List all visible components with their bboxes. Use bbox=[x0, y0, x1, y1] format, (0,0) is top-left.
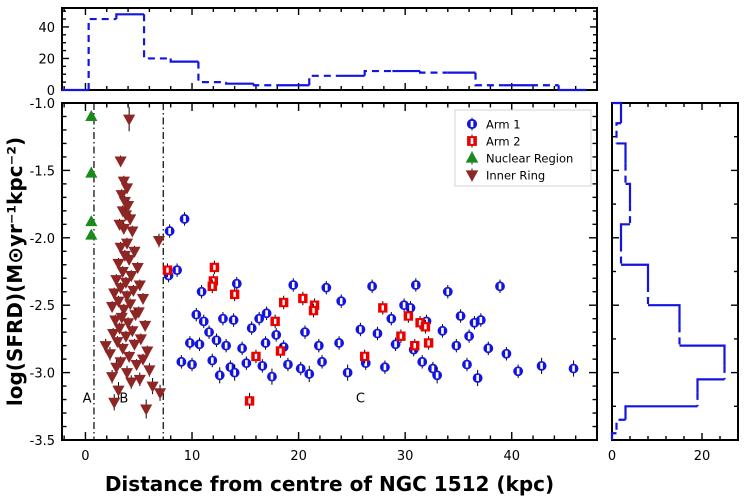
data-point bbox=[132, 361, 142, 370]
data-point-inner bbox=[540, 363, 543, 369]
data-point-inner bbox=[287, 362, 290, 368]
data-point bbox=[122, 369, 132, 378]
data-point-inner bbox=[409, 305, 412, 311]
data-point-inner bbox=[189, 340, 192, 346]
data-point-inner bbox=[325, 285, 328, 291]
data-point-inner bbox=[233, 370, 236, 376]
data-point-inner bbox=[400, 334, 402, 339]
y-tick-label: -1.5 bbox=[30, 164, 55, 179]
top-histogram-steps bbox=[62, 14, 586, 90]
x-tick-label: 10 bbox=[184, 449, 201, 464]
legend-label-arm-2: Arm 2 bbox=[486, 135, 521, 149]
right-histogram-bin bbox=[612, 433, 617, 440]
data-point-inner bbox=[441, 328, 444, 334]
data-point-inner bbox=[211, 284, 213, 289]
data-point bbox=[105, 350, 115, 359]
data-point-inner bbox=[304, 329, 307, 335]
data-point-inner bbox=[198, 341, 201, 347]
data-point-inner bbox=[168, 228, 171, 234]
series-inner-ring bbox=[101, 107, 165, 418]
series-arm-2 bbox=[164, 261, 433, 409]
legend-marker-inner bbox=[471, 138, 474, 144]
righthist-x-tick-label: 0 bbox=[608, 449, 616, 464]
data-point bbox=[86, 111, 96, 120]
data-point-inner bbox=[202, 318, 205, 324]
data-point-inner bbox=[382, 305, 384, 310]
data-point-inner bbox=[308, 371, 311, 377]
top-histogram-bin bbox=[89, 19, 117, 90]
data-point-inner bbox=[279, 348, 281, 353]
series-nuclear-region bbox=[86, 111, 96, 239]
data-point-inner bbox=[321, 359, 324, 365]
data-point-inner bbox=[459, 313, 462, 319]
data-point bbox=[144, 366, 154, 375]
x-tick-label: 30 bbox=[397, 449, 414, 464]
data-point-inner bbox=[233, 292, 235, 297]
data-point-inner bbox=[275, 332, 278, 338]
data-point bbox=[86, 168, 96, 177]
data-point-inner bbox=[222, 316, 225, 322]
data-point-inner bbox=[446, 289, 449, 295]
data-point-inner bbox=[403, 302, 406, 308]
right-histogram-frame bbox=[612, 103, 738, 440]
data-point-inner bbox=[176, 267, 179, 273]
data-point bbox=[140, 322, 150, 331]
data-point-inner bbox=[338, 340, 341, 346]
figure-canvas: 010203040-1.0-1.5-2.0-2.5-3.0-3.50204002… bbox=[0, 0, 747, 498]
data-point-inner bbox=[232, 317, 235, 323]
top-histogram-bin bbox=[476, 73, 504, 86]
right-histogram-bin bbox=[698, 379, 725, 392]
legend-label-inner-ring: Inner Ring bbox=[486, 169, 545, 183]
region-label-c: C bbox=[356, 391, 365, 406]
right-histogram-bin bbox=[617, 143, 626, 163]
data-point-inner bbox=[346, 370, 349, 376]
data-point-inner bbox=[180, 359, 183, 365]
data-point-inner bbox=[265, 310, 268, 316]
data-point bbox=[86, 216, 96, 225]
top-histogram-bin bbox=[116, 14, 144, 19]
data-point-inner bbox=[468, 333, 471, 339]
right-histogram-bin bbox=[648, 305, 680, 325]
data-point-inner bbox=[183, 216, 186, 222]
right-histogram-bin bbox=[621, 224, 630, 244]
right-histogram-bin bbox=[680, 346, 725, 366]
data-point-inner bbox=[390, 316, 393, 322]
x-tick-label: 20 bbox=[290, 449, 307, 464]
data-point-inner bbox=[282, 300, 284, 305]
data-point-inner bbox=[414, 343, 416, 348]
data-point-inner bbox=[480, 317, 483, 323]
data-point-inner bbox=[166, 268, 168, 273]
right-histogram-bin bbox=[617, 420, 626, 433]
data-point bbox=[109, 398, 119, 407]
right-histogram-bin bbox=[617, 123, 622, 143]
data-point-inner bbox=[215, 337, 218, 343]
data-point-inner bbox=[312, 308, 314, 313]
data-point-inner bbox=[424, 324, 426, 329]
data-point-inner bbox=[407, 313, 409, 318]
right-histogram-bin bbox=[612, 103, 621, 123]
data-point-inner bbox=[394, 341, 397, 347]
data-point-inner bbox=[572, 366, 575, 372]
data-point bbox=[126, 378, 136, 387]
data-point-inner bbox=[517, 368, 520, 374]
data-point-inner bbox=[299, 366, 302, 372]
data-point-inner bbox=[455, 343, 458, 349]
data-point-inner bbox=[476, 375, 479, 381]
data-point-inner bbox=[505, 351, 508, 357]
top-histogram-bin bbox=[254, 84, 282, 86]
data-point-inner bbox=[318, 343, 321, 349]
data-point-inner bbox=[292, 282, 295, 288]
data-point-inner bbox=[213, 265, 215, 270]
data-point bbox=[141, 405, 151, 414]
x-axis-label: Distance from centre of NGC 1512 (kpc) bbox=[105, 472, 554, 496]
data-point-inner bbox=[371, 283, 374, 289]
data-point-inner bbox=[466, 362, 469, 368]
top-histogram-bin bbox=[144, 14, 171, 58]
top-histogram-bin bbox=[198, 62, 226, 83]
data-point-inner bbox=[427, 340, 429, 345]
data-point-inner bbox=[195, 312, 198, 318]
data-point-inner bbox=[432, 366, 435, 372]
top-histogram-bin bbox=[226, 82, 254, 84]
data-point-inner bbox=[384, 364, 387, 370]
data-point-inner bbox=[473, 320, 476, 326]
data-point-inner bbox=[421, 359, 424, 365]
data-point-inner bbox=[340, 298, 343, 304]
legend-label-nuclear-region: Nuclear Region bbox=[486, 152, 573, 166]
y-tick-label: -2.0 bbox=[30, 232, 55, 247]
data-point-inner bbox=[225, 343, 228, 349]
figure-root: 010203040-1.0-1.5-2.0-2.5-3.0-3.50204002… bbox=[0, 0, 747, 498]
data-point-inner bbox=[264, 340, 267, 346]
tophist-y-tick-label: 20 bbox=[38, 52, 55, 67]
data-point-inner bbox=[302, 296, 304, 301]
data-point bbox=[107, 373, 117, 382]
right-histogram-steps bbox=[612, 103, 725, 440]
data-point-inner bbox=[274, 319, 276, 324]
data-point bbox=[135, 375, 145, 384]
data-point-inner bbox=[415, 282, 418, 288]
tophist-y-tick-label: 40 bbox=[38, 21, 55, 36]
top-histogram-frame bbox=[62, 8, 597, 90]
data-point-inner bbox=[250, 325, 253, 331]
data-point-inner bbox=[258, 316, 261, 322]
data-point-inner bbox=[211, 357, 214, 363]
data-point-inner bbox=[218, 372, 221, 378]
y-tick-label: -2.5 bbox=[30, 299, 55, 314]
region-label-a: A bbox=[83, 391, 92, 406]
data-point-inner bbox=[487, 345, 490, 351]
legend-marker-inner bbox=[471, 121, 474, 127]
x-tick-label: 0 bbox=[81, 449, 89, 464]
righthist-x-tick-label: 20 bbox=[694, 449, 711, 464]
data-point-inner bbox=[261, 363, 264, 369]
data-point bbox=[127, 227, 137, 236]
data-point-inner bbox=[499, 283, 502, 289]
data-point bbox=[129, 340, 139, 349]
top-histogram-bin bbox=[420, 71, 448, 73]
right-histogram-bin bbox=[626, 184, 631, 204]
data-point bbox=[138, 295, 148, 304]
tophist-y-tick-label: 0 bbox=[47, 84, 55, 99]
data-point-inner bbox=[235, 281, 238, 287]
data-point bbox=[116, 157, 126, 166]
data-point-inner bbox=[271, 374, 274, 380]
data-point-inner bbox=[241, 345, 244, 351]
right-histogram-bin bbox=[626, 406, 698, 419]
y-axis-label: log(SFRD)(M⊙yr⁻¹kpc⁻²) bbox=[3, 137, 27, 406]
data-point bbox=[111, 363, 121, 372]
x-tick-label: 40 bbox=[503, 449, 520, 464]
data-point-inner bbox=[255, 354, 257, 359]
legend-label-arm-1: Arm 1 bbox=[486, 118, 521, 132]
series-arm-1 bbox=[164, 212, 577, 386]
data-point bbox=[107, 303, 117, 312]
top-histogram-bin bbox=[171, 58, 199, 61]
data-point-inner bbox=[191, 362, 194, 368]
data-point bbox=[86, 230, 96, 239]
region-label-b: B bbox=[119, 391, 128, 406]
data-point-inner bbox=[200, 289, 203, 295]
data-point-inner bbox=[359, 326, 362, 332]
data-point-inner bbox=[208, 329, 211, 335]
right-histogram-bin bbox=[621, 265, 648, 285]
data-point-inner bbox=[363, 354, 365, 359]
top-histogram-bin bbox=[365, 71, 393, 76]
top-histogram-bin bbox=[309, 76, 337, 85]
top-histogram-bin bbox=[559, 85, 587, 90]
data-point-inner bbox=[248, 398, 250, 403]
data-point bbox=[154, 237, 164, 246]
data-point-inner bbox=[245, 360, 248, 366]
data-point-inner bbox=[436, 372, 439, 378]
y-tick-label: -3.5 bbox=[30, 434, 55, 449]
y-tick-label: -3.0 bbox=[30, 367, 55, 382]
data-point-inner bbox=[376, 331, 379, 337]
y-tick-label: -1.0 bbox=[30, 97, 55, 112]
data-point bbox=[124, 115, 134, 124]
